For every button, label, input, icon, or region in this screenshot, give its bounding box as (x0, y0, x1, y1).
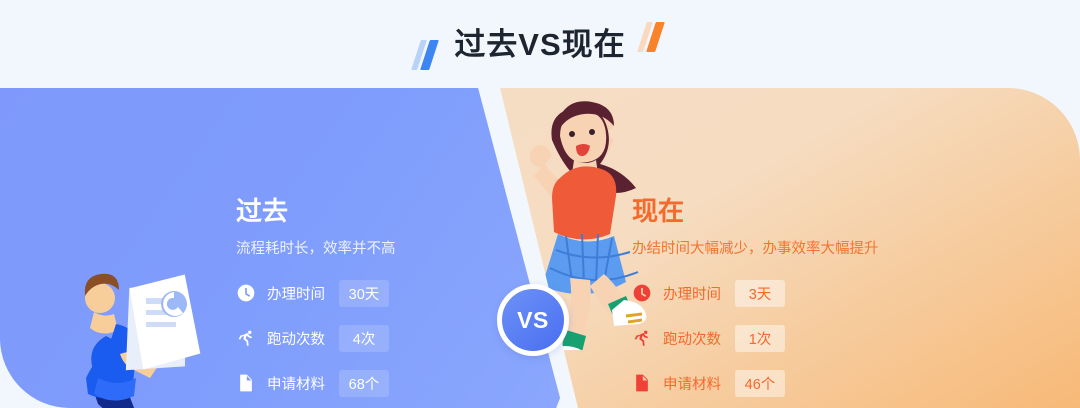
present-stat-label: 办理时间 (663, 283, 721, 304)
past-stat-row: 跑动次数 4次 (236, 326, 396, 352)
present-subtitle: 办结时间大幅减少，办事效率大幅提升 (632, 242, 879, 257)
past-stat-value: 68个 (339, 370, 389, 397)
present-heading: 现在 (632, 198, 879, 224)
vs-badge: VS (497, 284, 569, 356)
vs-badge-label: VS (517, 307, 549, 334)
panels-container: VS 过去 流程耗时长，效率并不高 办理时间 30天 跑动次数 4次 (0, 88, 1080, 408)
past-subtitle: 流程耗时长，效率并不高 (236, 242, 396, 257)
page-title-bar: 过去VS现在 (0, 0, 1080, 88)
past-content: 过去 流程耗时长，效率并不高 办理时间 30天 跑动次数 4次 (236, 198, 396, 408)
slash-mark-blue-icon (414, 40, 440, 70)
running-icon (632, 328, 654, 350)
comparison-banner: 过去VS现在 (0, 0, 1080, 408)
present-content: 现在 办结时间大幅减少，办事效率大幅提升 办理时间 3天 跑动次数 1次 (632, 198, 879, 408)
document-icon (632, 373, 654, 395)
past-stat-label: 办理时间 (267, 283, 325, 304)
page-title: 过去VS现在 (454, 29, 625, 60)
present-stat-value: 1次 (735, 325, 785, 352)
present-stat-row: 申请材料 46个 (632, 371, 879, 397)
present-stat-label: 跑动次数 (663, 328, 721, 349)
past-stat-label: 申请材料 (267, 373, 325, 394)
running-icon (236, 328, 258, 350)
present-stat-value: 46个 (735, 370, 785, 397)
present-stat-row: 办理时间 3天 (632, 281, 879, 307)
past-heading: 过去 (236, 198, 396, 224)
clock-icon (236, 283, 258, 305)
document-icon (236, 373, 258, 395)
past-stat-row: 办理时间 30天 (236, 281, 396, 307)
present-stat-label: 申请材料 (663, 373, 721, 394)
slash-mark-orange-icon (640, 22, 666, 52)
present-stat-value: 3天 (735, 280, 785, 307)
present-stat-row: 跑动次数 1次 (632, 326, 879, 352)
past-stat-value: 4次 (339, 325, 389, 352)
past-stat-row: 申请材料 68个 (236, 371, 396, 397)
clock-icon (632, 283, 654, 305)
past-stat-label: 跑动次数 (267, 328, 325, 349)
past-stat-value: 30天 (339, 280, 389, 307)
